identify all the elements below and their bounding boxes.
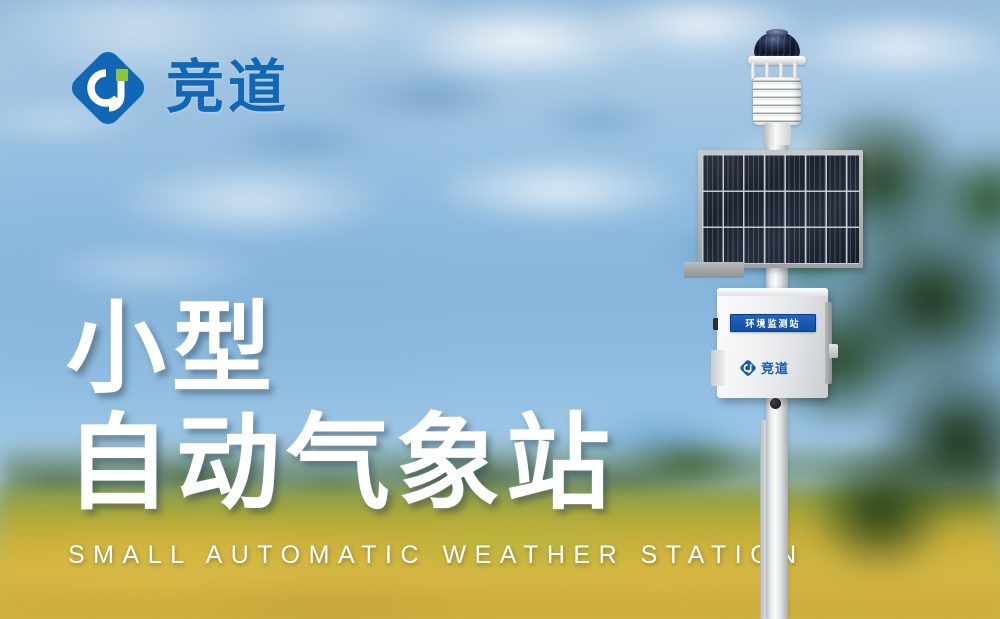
- sensor-neck-icon: [763, 123, 791, 145]
- control-box-banner-label: 环境监测站: [745, 316, 800, 330]
- title-line-1: 小型: [66, 296, 616, 402]
- solar-cells: [702, 154, 859, 264]
- brand-name: 竞道: [166, 59, 290, 117]
- jingdao-diamond-logo-icon: [66, 46, 150, 130]
- control-box-top: [717, 288, 828, 296]
- control-box-logo-text: 竞道: [761, 362, 789, 375]
- solar-panel-icon: [698, 150, 863, 268]
- control-box-brand-logo: 竞道: [739, 358, 809, 378]
- solar-panel-bracket-icon: [684, 262, 744, 278]
- radiation-shield-icon: [753, 77, 801, 125]
- brand-logo: 竞道: [66, 46, 290, 130]
- ultrasonic-weather-sensor-icon: [739, 32, 815, 142]
- control-box-shelf: [711, 350, 725, 386]
- title-line-2: 自动气象站: [66, 408, 616, 520]
- weather-station-hero-banner: 竞道 小型 自动气象站 SMALL AUTOMATIC WEATHER STAT…: [0, 0, 1000, 619]
- control-box-clip: [713, 318, 718, 330]
- jingdao-diamond-logo-icon: [739, 359, 757, 377]
- mast-bolt-icon: [770, 398, 781, 409]
- control-box-tab: [829, 344, 838, 358]
- control-box-side: [825, 302, 832, 384]
- sensor-dome-cap-icon: [766, 29, 788, 36]
- page-title: 小型 自动气象站: [66, 296, 616, 520]
- control-box-banner: 环境监测站: [730, 314, 816, 332]
- weather-station-product: 环境监测站 竞道: [620, 0, 940, 619]
- control-box: 环境监测站 竞道: [717, 288, 828, 398]
